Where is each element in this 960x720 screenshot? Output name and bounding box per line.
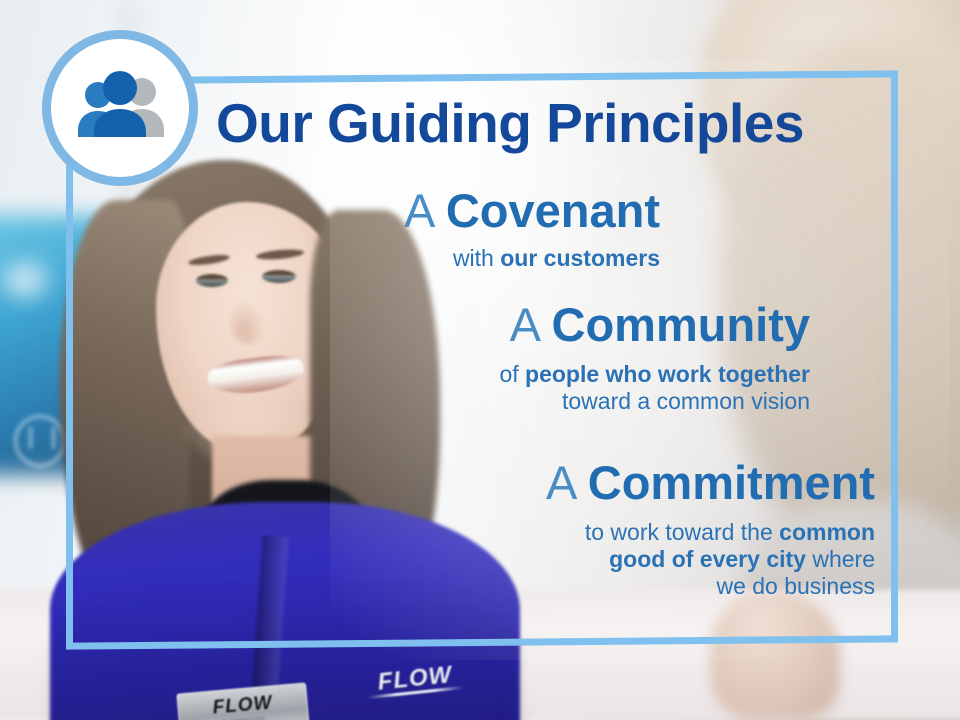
people-group-icon	[68, 70, 172, 146]
chest-logo-brand: FLOW	[377, 663, 454, 695]
principle-covenant: A Covenant with our customers	[120, 186, 660, 272]
principle-keyword: Covenant	[446, 184, 660, 237]
principle-headline: A Community	[200, 300, 810, 349]
principle-description: with our customers	[120, 245, 660, 272]
customer-hand-blur	[710, 590, 840, 720]
principle-article: A	[546, 456, 575, 509]
vehicle-emblem-icon	[14, 415, 66, 467]
principle-headline: A Commitment	[260, 458, 875, 507]
principle-article: A	[404, 184, 433, 237]
name-tag-brand: FLOW	[212, 693, 273, 717]
principle-keyword: Community	[552, 298, 811, 351]
people-badge	[42, 30, 198, 186]
principle-description: of people who work togethertoward a comm…	[200, 361, 810, 414]
principle-commitment: A Commitment to work toward the commongo…	[260, 458, 875, 599]
principle-article: A	[510, 298, 539, 351]
principle-headline: A Covenant	[120, 186, 660, 235]
page-title: Our Guiding Principles	[216, 96, 804, 151]
principle-keyword: Commitment	[588, 456, 875, 509]
vehicle-highlight	[0, 250, 60, 310]
associate-eye-left	[196, 274, 228, 287]
principle-description: to work toward the commongood of every c…	[260, 519, 875, 599]
principle-community: A Community of people who work togethert…	[200, 300, 810, 415]
promotional-graphic: FLOW AUTOMOTIVE FLOW	[0, 0, 960, 720]
